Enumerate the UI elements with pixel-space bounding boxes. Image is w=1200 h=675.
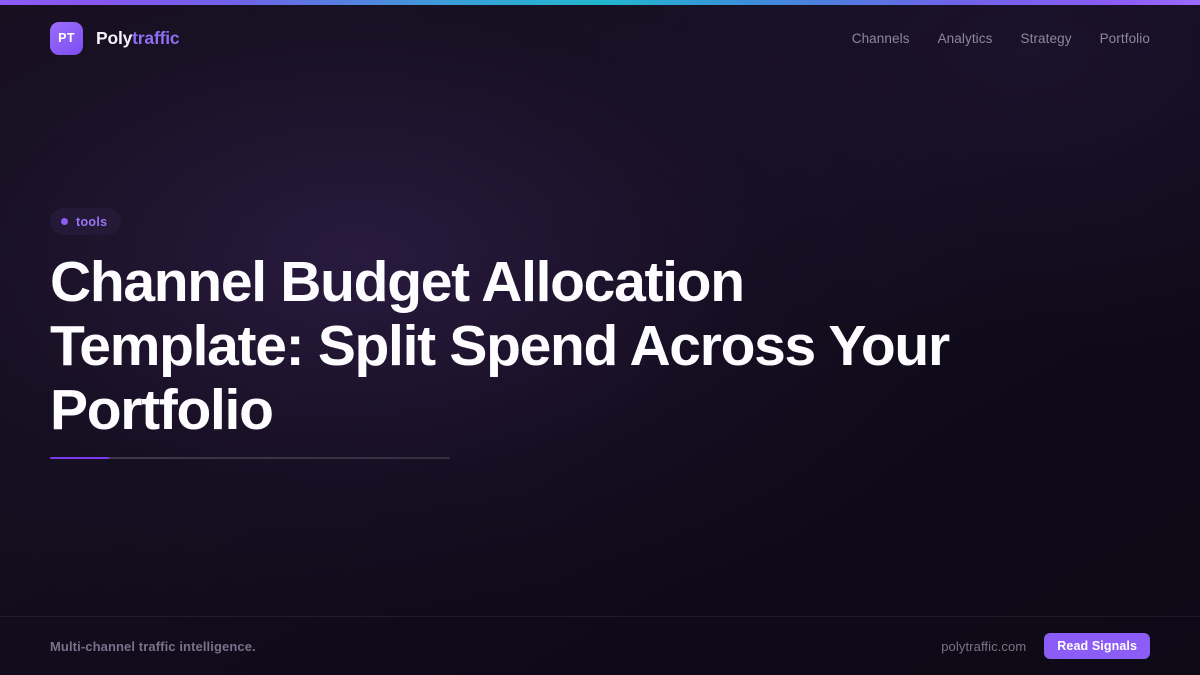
footer-url[interactable]: polytraffic.com (941, 639, 1026, 654)
title-divider (50, 457, 450, 459)
page-root: PT Polytraffic Channels Analytics Strate… (0, 0, 1200, 675)
read-signals-button[interactable]: Read Signals (1044, 633, 1150, 659)
hero-section: tools Channel Budget Allocation Template… (0, 0, 1200, 616)
site-footer: Multi-channel traffic intelligence. poly… (0, 616, 1200, 675)
footer-actions: polytraffic.com Read Signals (941, 633, 1150, 659)
footer-tagline: Multi-channel traffic intelligence. (50, 639, 256, 654)
badge-dot-icon (61, 218, 68, 225)
category-badge[interactable]: tools (50, 208, 121, 235)
badge-label: tools (76, 215, 107, 229)
page-title: Channel Budget Allocation Template: Spli… (50, 250, 1000, 442)
